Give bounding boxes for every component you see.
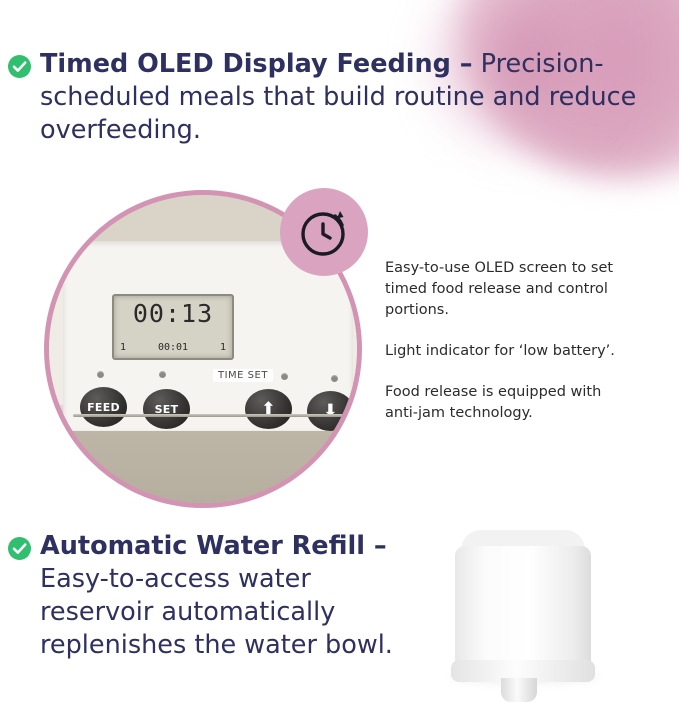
section-title-block: Timed OLED Display Feeding – Precision-s…	[40, 48, 671, 147]
down-button[interactable]: ⬇	[307, 391, 354, 431]
section-heading-row: Timed OLED Display Feeding – Precision-s…	[8, 48, 671, 147]
display-main-time: 00:13	[114, 299, 232, 328]
display-sub-row: 1 00:01 1	[114, 342, 232, 353]
check-circle-icon	[8, 55, 31, 78]
clock-icon	[280, 188, 368, 276]
section-title: Timed OLED Display Feeding	[40, 49, 451, 79]
display-sub-center: 00:01	[158, 342, 188, 353]
section-timed-oled: Timed OLED Display Feeding – Precision-s…	[8, 48, 671, 147]
section-title-dash: –	[451, 49, 473, 79]
feed-button[interactable]: FEED	[80, 387, 127, 427]
led-indicator-1	[97, 371, 104, 378]
section-title: Automatic Water Refill	[40, 531, 365, 561]
side-notes-list: Easy-to-use OLED screen to set timed foo…	[385, 258, 635, 424]
panel-seam	[73, 414, 343, 417]
set-button[interactable]: SET	[143, 389, 190, 429]
led-indicator-3	[281, 373, 288, 380]
up-button[interactable]: ⬆	[245, 389, 292, 429]
water-reservoir-bottle-photo	[443, 520, 679, 703]
section-water-refill: Automatic Water Refill – Easy-to-access …	[8, 530, 429, 662]
section-title-block: Automatic Water Refill – Easy-to-access …	[40, 530, 429, 662]
bottle-nozzle	[501, 678, 537, 702]
led-indicator-2	[159, 371, 166, 378]
bottle-body	[455, 546, 591, 674]
check-circle-icon	[8, 537, 31, 560]
oled-display: 00:13 1 00:01 1	[112, 294, 234, 360]
side-note-item: Light indicator for ‘low battery’.	[385, 341, 635, 362]
side-note-item: Food release is equipped with anti-jam t…	[385, 382, 635, 424]
section-body: Easy-to-access water reservoir automatic…	[40, 564, 393, 660]
display-sub-right: 1	[220, 342, 226, 353]
time-set-label: TIME SET	[213, 369, 273, 382]
side-note-item: Easy-to-use OLED screen to set timed foo…	[385, 258, 635, 321]
led-indicator-4	[331, 375, 338, 382]
section-heading-row: Automatic Water Refill – Easy-to-access …	[8, 530, 429, 662]
display-sub-left: 1	[120, 342, 126, 353]
feeder-control-panel-photo: 00:13 1 00:01 1 TIME SET FEED SET ⬆ ⬇	[44, 190, 364, 510]
section-title-dash: –	[365, 531, 387, 561]
